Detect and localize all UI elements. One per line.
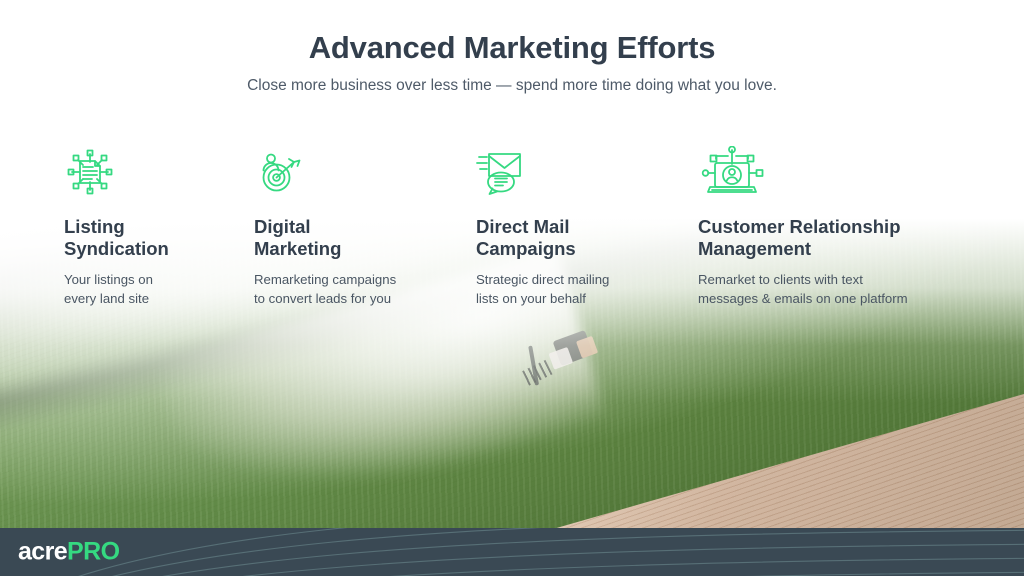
marketing-slide: Advanced Marketing Efforts Close more bu… — [0, 0, 1024, 576]
logo-text-acre: acre — [18, 538, 67, 566]
feature-title: Customer Relationship Management — [698, 216, 964, 259]
target-audience-icon — [254, 146, 476, 198]
feature-description: Strategic direct mailing lists on your b… — [476, 271, 698, 308]
footer-bar: acrePRO — [0, 528, 1024, 576]
page-subtitle: Close more business over less time — spe… — [0, 77, 1024, 95]
page-title: Advanced Marketing Efforts — [0, 30, 1024, 66]
feature-item-customer-relationship-management: Customer Relationship Management Remarke… — [698, 146, 964, 309]
header: Advanced Marketing Efforts Close more bu… — [0, 30, 1024, 95]
acrepro-logo[interactable]: acrePRO — [18, 538, 119, 567]
laptop-user-network-icon — [698, 146, 964, 198]
feature-title: Direct Mail Campaigns — [476, 216, 698, 259]
feature-item-direct-mail-campaigns: Direct Mail Campaigns Strategic direct m… — [476, 146, 698, 309]
feature-columns: Listing Syndication Your listings on eve… — [64, 146, 964, 309]
feature-item-digital-marketing: Digital Marketing Remarketing campaigns … — [254, 146, 476, 309]
feature-description: Your listings on every land site — [64, 271, 254, 308]
footer-contour-lines — [0, 528, 1024, 576]
feature-title: Listing Syndication — [64, 216, 254, 259]
feature-title: Digital Marketing — [254, 216, 476, 259]
feature-description: Remarket to clients with text messages &… — [698, 271, 964, 308]
feature-description: Remarketing campaigns to convert leads f… — [254, 271, 476, 308]
logo-text-pro: PRO — [67, 538, 119, 566]
feature-item-listing-syndication: Listing Syndication Your listings on eve… — [64, 146, 254, 309]
envelope-message-icon — [476, 146, 698, 198]
document-network-icon — [64, 146, 254, 198]
